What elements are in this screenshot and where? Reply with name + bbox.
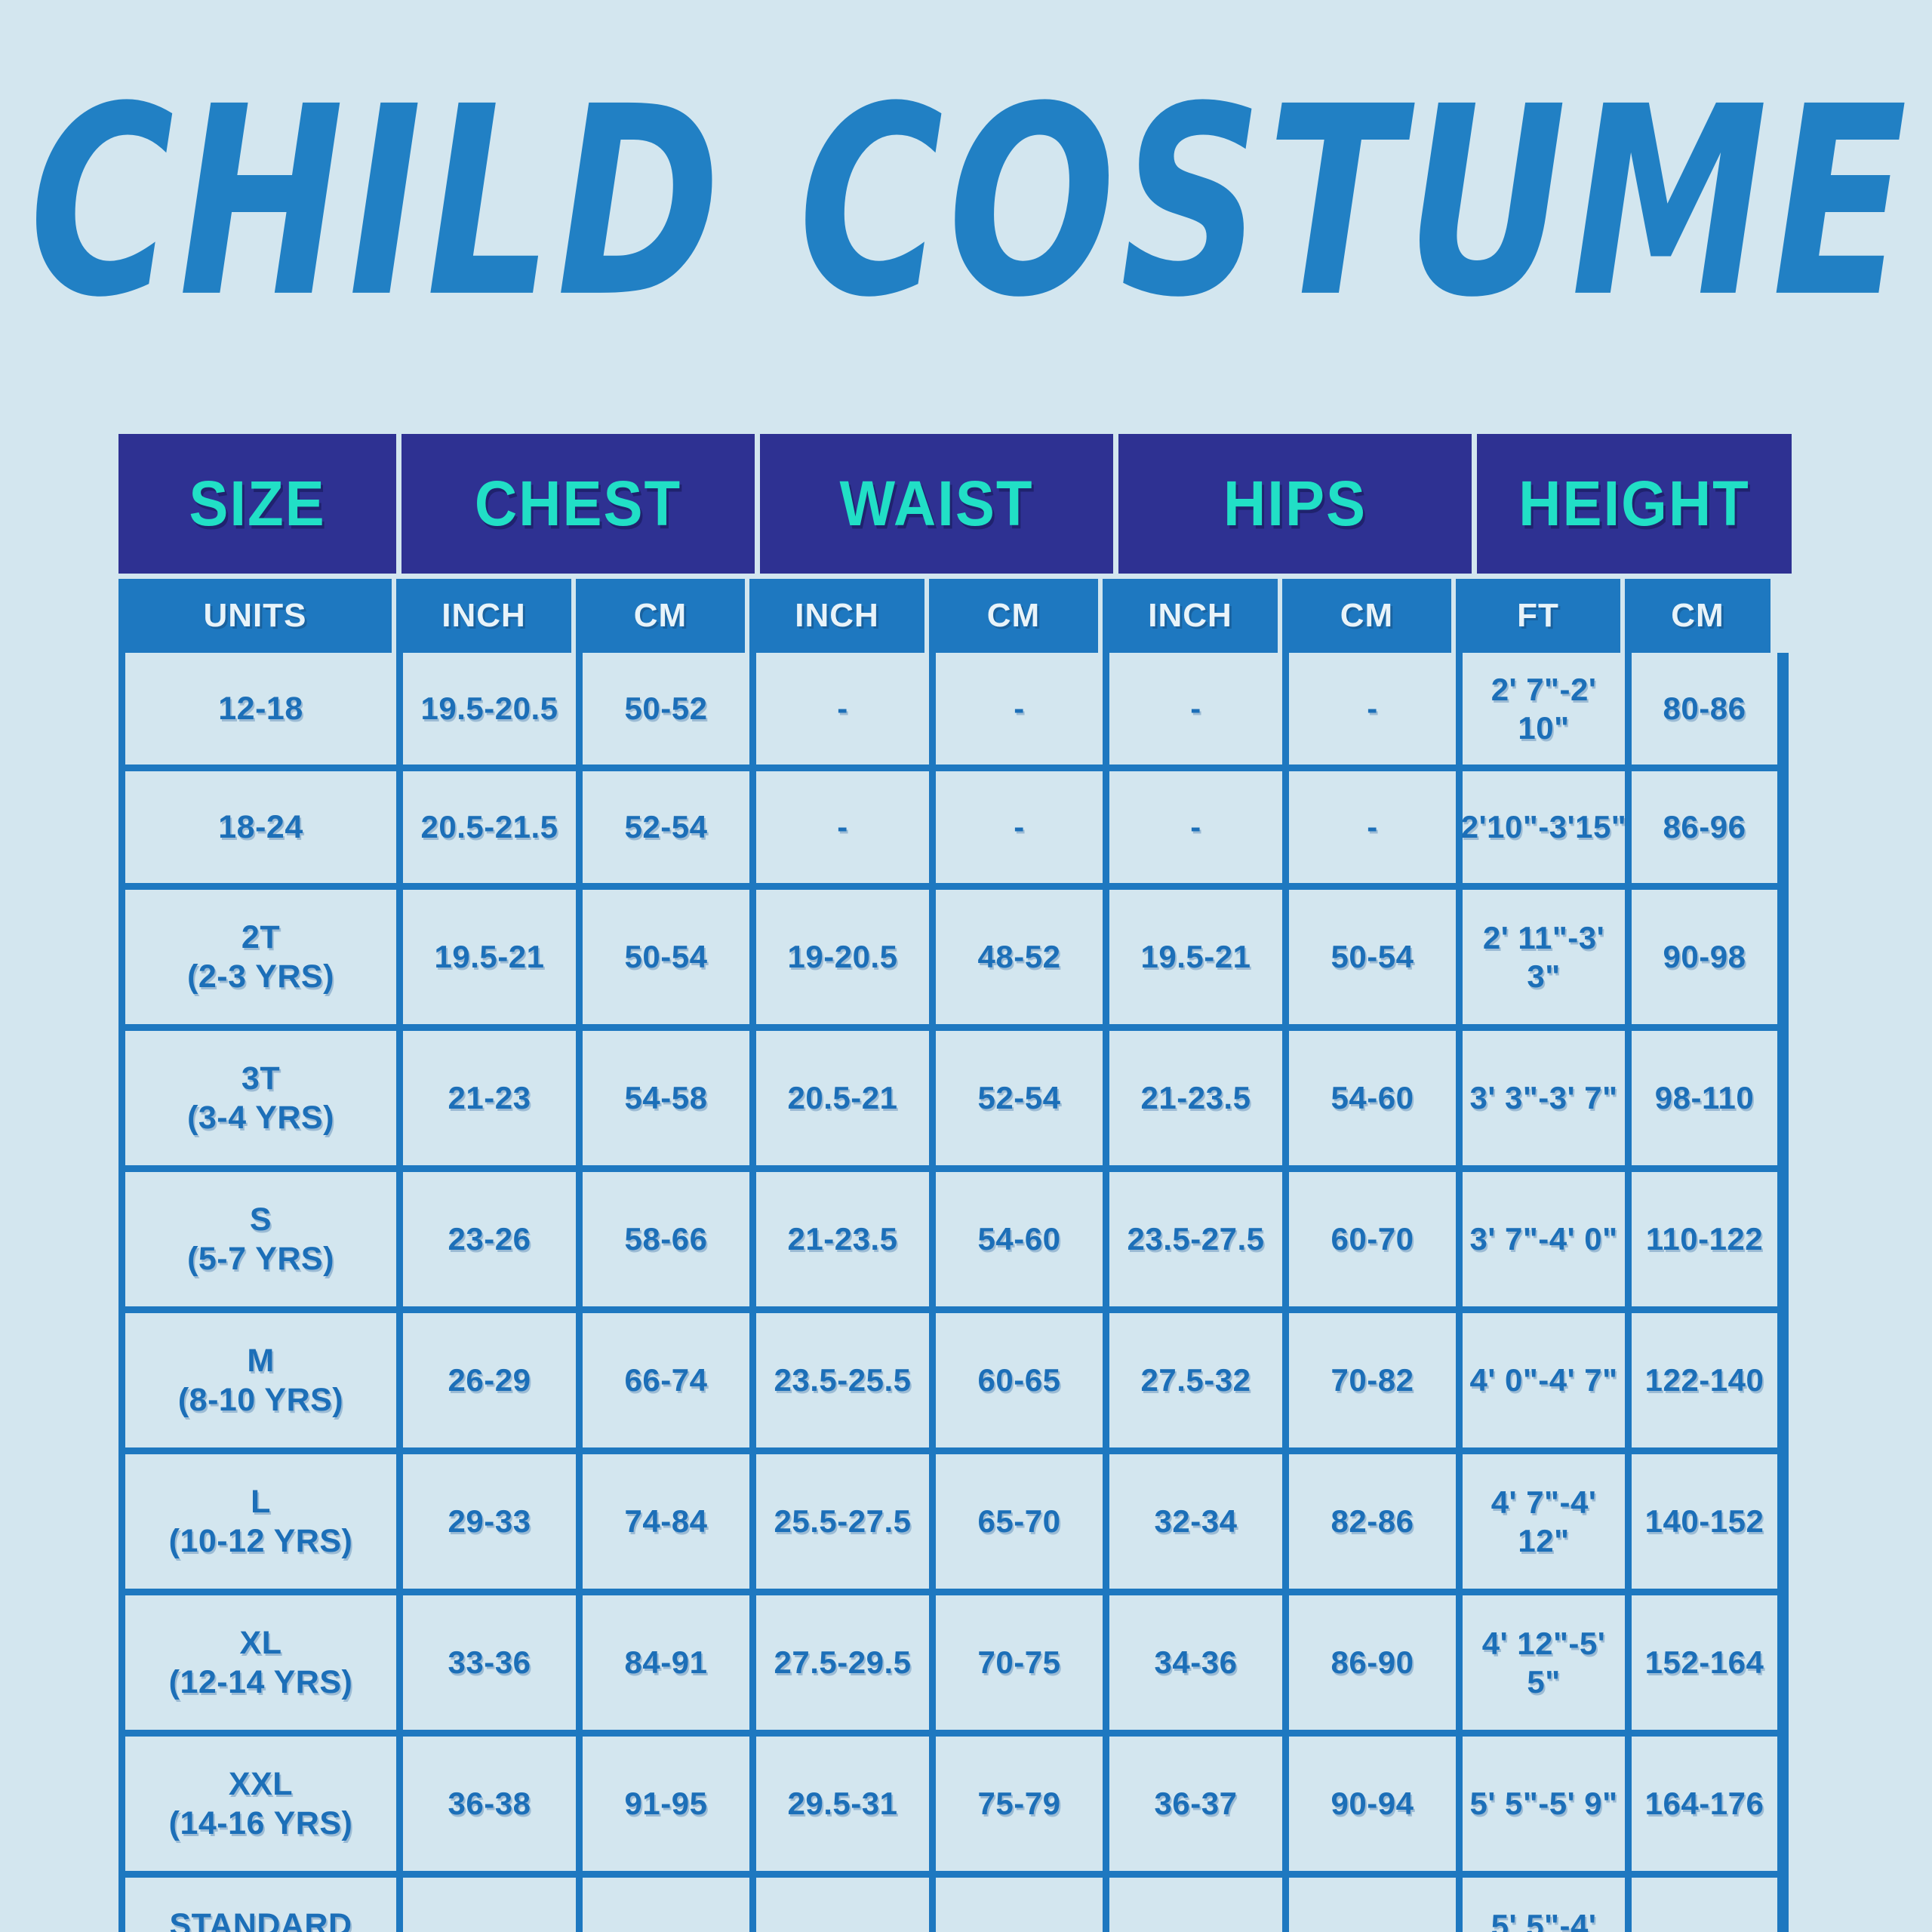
cell-hips-inch-value: - — [1190, 808, 1201, 846]
cell-hips-inch-value: 19.5-21 — [1141, 937, 1251, 976]
sub-header-hips-inch-label: INCH — [1148, 597, 1232, 635]
cell-waist-inch: 21.5-26.5 — [756, 1878, 936, 1932]
cell-size-value: 12-18 — [218, 689, 303, 728]
cell-height-ft: 2' 7"-2' 10" — [1463, 653, 1632, 764]
cell-size: STANDARD (5-12 YRS) — [125, 1878, 403, 1932]
cell-hips-inch-value: 23.5-27.5 — [1128, 1220, 1265, 1258]
cell-chest-cm: 84-91 — [583, 1595, 756, 1730]
cell-hips-cm-value: 70-82 — [1331, 1361, 1414, 1399]
cell-waist-cm-value: 55-68 — [978, 1925, 1061, 1932]
cell-height-cm-value: 90-98 — [1663, 937, 1746, 976]
cell-hips-inch-value: 27.5-32 — [1141, 1361, 1251, 1399]
cell-waist-cm: - — [936, 653, 1109, 764]
cell-waist-inch-value: 29.5-31 — [788, 1784, 898, 1823]
cell-waist-cm: - — [936, 771, 1109, 883]
cell-chest-cm: 58-66 — [583, 1172, 756, 1306]
cell-height-ft: 2'10"-3'15" — [1463, 771, 1632, 883]
cell-hips-cm-value: 60-70 — [1331, 1220, 1414, 1258]
cell-chest-inch: 33-36 — [403, 1595, 583, 1730]
cell-height-ft-value: 4' 0"-4' 7" — [1469, 1361, 1617, 1399]
sub-header-waist-inch: INCH — [749, 579, 929, 653]
size-chart-table: SIZE CHEST WAIST HIPS HEIGHT UNITS INCH — [118, 434, 1789, 1932]
sub-header-units-label: UNITS — [204, 597, 307, 635]
cell-size-value: S (5-7 YRS) — [187, 1200, 334, 1279]
cell-chest-inch-value: 23-26 — [448, 1220, 531, 1258]
cell-hips-cm: 90-94 — [1289, 1737, 1463, 1871]
cell-chest-inch-value: 33-36 — [448, 1643, 531, 1681]
cell-height-ft: 4' 0"-4' 7" — [1463, 1313, 1632, 1447]
cell-height-cm-value: 152-164 — [1645, 1643, 1764, 1681]
cell-chest-inch-value: 36-38 — [448, 1784, 531, 1823]
cell-hips-cm: 60-70 — [1289, 1172, 1463, 1306]
cell-waist-inch-value: 19-20.5 — [788, 937, 898, 976]
sub-header-waist-cm-label: CM — [987, 597, 1040, 635]
sub-header-height-cm: CM — [1625, 579, 1770, 653]
cell-waist-inch: - — [756, 771, 936, 883]
cell-height-cm: 140-152 — [1632, 1454, 1777, 1589]
cell-chest-inch: 23-31 — [403, 1878, 583, 1932]
cell-height-ft-value: 2' 11"-3' 3" — [1466, 918, 1622, 995]
cell-chest-inch: 26-29 — [403, 1313, 583, 1447]
cell-chest-inch-value: 23-31 — [448, 1925, 531, 1932]
cell-chest-inch-value: 21-23 — [448, 1078, 531, 1117]
cell-hips-inch: 23.5-27.5 — [1109, 1172, 1289, 1306]
cell-size-value: 18-24 — [218, 808, 303, 847]
sub-header-waist-cm: CM — [929, 579, 1103, 653]
cell-waist-inch: 20.5-21 — [756, 1031, 936, 1165]
cell-waist-inch-value: 21-23.5 — [788, 1220, 898, 1258]
cell-height-cm: 90-98 — [1632, 890, 1777, 1024]
table-row: XXL (14-16 YRS)36-3891-9529.5-3175-7936-… — [125, 1737, 1782, 1878]
cell-waist-inch: - — [756, 653, 936, 764]
cell-size: 18-24 — [125, 771, 403, 883]
cell-height-ft: 5' 5"-4' 11" — [1463, 1878, 1632, 1932]
cell-hips-cm: 82-86 — [1289, 1454, 1463, 1589]
cell-height-cm-value: 98-110 — [1655, 1078, 1754, 1117]
cell-waist-inch-value: 23.5-25.5 — [774, 1361, 912, 1399]
cell-height-ft-value: 3' 3"-3' 7" — [1469, 1078, 1617, 1117]
cell-size-value: XXL (14-16 YRS) — [169, 1764, 353, 1844]
cell-waist-inch: 25.5-27.5 — [756, 1454, 936, 1589]
cell-height-cm: 98-110 — [1632, 1031, 1777, 1165]
cell-height-cm-value: 80-86 — [1663, 689, 1746, 728]
cell-size: 3T (3-4 YRS) — [125, 1031, 403, 1165]
cell-waist-cm: 48-52 — [936, 890, 1109, 1024]
table-row: S (5-7 YRS)23-2658-6621-23.554-6023.5-27… — [125, 1172, 1782, 1313]
table-row: L (10-12 YRS)29-3374-8425.5-27.565-7032-… — [125, 1454, 1782, 1595]
cell-height-cm: 110-122 — [1632, 1172, 1777, 1306]
table-row: XL (12-14 YRS)33-3684-9127.5-29.570-7534… — [125, 1595, 1782, 1737]
cell-chest-inch: 19.5-20.5 — [403, 653, 583, 764]
cell-waist-cm-value: 48-52 — [978, 937, 1061, 976]
sub-header-units: UNITS — [118, 579, 396, 653]
cell-size: XL (12-14 YRS) — [125, 1595, 403, 1730]
cell-hips-inch: 25-34 — [1109, 1878, 1289, 1932]
cell-height-cm-value: 86-96 — [1663, 808, 1746, 846]
cell-hips-inch-value: 32-34 — [1155, 1502, 1238, 1540]
cell-hips-cm-value: 54-60 — [1331, 1078, 1414, 1117]
cell-chest-cm-value: 66-74 — [625, 1361, 708, 1399]
group-header-hips: HIPS — [1118, 434, 1472, 574]
cell-waist-inch: 29.5-31 — [756, 1737, 936, 1871]
cell-height-cm-value: 122-140 — [1645, 1361, 1764, 1399]
cell-hips-inch-value: 34-36 — [1155, 1643, 1238, 1681]
cell-waist-cm-value: 52-54 — [978, 1078, 1061, 1117]
cell-waist-cm: 75-79 — [936, 1737, 1109, 1871]
cell-hips-inch-value: - — [1190, 689, 1201, 728]
cell-height-cm-value: 110-150 — [1646, 1925, 1763, 1932]
cell-height-cm-value: 110-122 — [1646, 1220, 1763, 1258]
cell-height-ft-value: 4' 12"-5' 5" — [1466, 1624, 1622, 1701]
cell-height-ft: 3' 7"-4' 0" — [1463, 1172, 1632, 1306]
cell-waist-inch-value: 21.5-26.5 — [774, 1925, 912, 1932]
cell-chest-cm: 66-74 — [583, 1313, 756, 1447]
cell-chest-cm-value: 59-80 — [625, 1925, 708, 1932]
cell-chest-cm-value: 50-52 — [625, 689, 708, 728]
table-row: 18-2420.5-21.552-54----2'10"-3'15"86-96 — [125, 771, 1782, 890]
group-header-hips-label: HIPS — [1223, 466, 1367, 540]
cell-hips-inch: - — [1109, 771, 1289, 883]
cell-waist-cm: 55-68 — [936, 1878, 1109, 1932]
cell-size: XXL (14-16 YRS) — [125, 1737, 403, 1871]
cell-size-value: 2T (2-3 YRS) — [187, 918, 334, 997]
cell-hips-inch-value: 36-37 — [1155, 1784, 1238, 1823]
cell-hips-cm: 70-82 — [1289, 1313, 1463, 1447]
cell-hips-inch: 34-36 — [1109, 1595, 1289, 1730]
table-row: STANDARD (5-12 YRS)23-3159-8021.5-26.555… — [125, 1878, 1782, 1932]
cell-height-cm-value: 164-176 — [1645, 1784, 1764, 1823]
cell-height-ft: 5' 5"-5' 9" — [1463, 1737, 1632, 1871]
cell-chest-inch-value: 19.5-21 — [435, 937, 545, 976]
cell-chest-cm-value: 52-54 — [625, 808, 708, 846]
cell-height-cm: 80-86 — [1632, 653, 1777, 764]
group-header-height: HEIGHT — [1477, 434, 1792, 574]
cell-size-value: 3T (3-4 YRS) — [187, 1059, 334, 1138]
cell-waist-inch: 19-20.5 — [756, 890, 936, 1024]
cell-chest-inch-value: 20.5-21.5 — [421, 808, 558, 846]
cell-chest-cm-value: 84-91 — [625, 1643, 708, 1681]
cell-chest-inch: 23-26 — [403, 1172, 583, 1306]
table-row: M (8-10 YRS)26-2966-7423.5-25.560-6527.5… — [125, 1313, 1782, 1454]
cell-height-ft-value: 4' 7"-4' 12" — [1466, 1483, 1622, 1560]
cell-chest-inch-value: 29-33 — [448, 1502, 531, 1540]
cell-chest-cm-value: 58-66 — [625, 1220, 708, 1258]
cell-height-ft: 2' 11"-3' 3" — [1463, 890, 1632, 1024]
cell-chest-inch-value: 19.5-20.5 — [421, 689, 558, 728]
sub-header-height-ft: FT — [1456, 579, 1625, 653]
sub-header-chest-inch: INCH — [396, 579, 576, 653]
cell-waist-cm-value: - — [1014, 808, 1025, 846]
group-header-chest-label: CHEST — [475, 466, 681, 540]
cell-height-cm: 152-164 — [1632, 1595, 1777, 1730]
sub-header-chest-cm: CM — [576, 579, 749, 653]
cell-chest-cm-value: 50-54 — [625, 937, 708, 976]
cell-waist-cm: 65-70 — [936, 1454, 1109, 1589]
cell-waist-cm-value: 75-79 — [978, 1784, 1061, 1823]
cell-height-ft-value: 2'10"-3'15" — [1461, 808, 1626, 846]
cell-hips-inch: 36-37 — [1109, 1737, 1289, 1871]
cell-height-cm: 164-176 — [1632, 1737, 1777, 1871]
cell-size-value: XL (12-14 YRS) — [169, 1623, 353, 1703]
cell-waist-inch: 23.5-25.5 — [756, 1313, 936, 1447]
cell-hips-inch: 21-23.5 — [1109, 1031, 1289, 1165]
sub-header-chest-cm-label: CM — [634, 597, 687, 635]
sub-header-height-cm-label: CM — [1671, 597, 1724, 635]
cell-waist-cm-value: 65-70 — [978, 1502, 1061, 1540]
page-title-wrap: CHILD COSTUME — [0, 79, 1932, 273]
cell-size-value: STANDARD (5-12 YRS) — [169, 1906, 352, 1932]
cell-waist-cm-value: 60-65 — [978, 1361, 1061, 1399]
cell-hips-inch-value: 25-34 — [1155, 1925, 1238, 1932]
cell-hips-inch: 32-34 — [1109, 1454, 1289, 1589]
cell-chest-inch: 29-33 — [403, 1454, 583, 1589]
cell-chest-inch: 36-38 — [403, 1737, 583, 1871]
table-row: 3T (3-4 YRS)21-2354-5820.5-2152-5421-23.… — [125, 1031, 1782, 1172]
table-row: 2T (2-3 YRS)19.5-2150-5419-20.548-5219.5… — [125, 890, 1782, 1031]
sub-header-hips-cm: CM — [1282, 579, 1456, 653]
cell-waist-cm: 52-54 — [936, 1031, 1109, 1165]
cell-height-ft: 4' 7"-4' 12" — [1463, 1454, 1632, 1589]
cell-waist-inch-value: - — [837, 689, 848, 728]
cell-waist-cm-value: 70-75 — [978, 1643, 1061, 1681]
cell-chest-inch-value: 26-29 — [448, 1361, 531, 1399]
cell-size: 2T (2-3 YRS) — [125, 890, 403, 1024]
table-body: 12-1819.5-20.550-52----2' 7"-2' 10"80-86… — [118, 653, 1789, 1932]
cell-waist-cm: 70-75 — [936, 1595, 1109, 1730]
cell-hips-cm: 50-54 — [1289, 890, 1463, 1024]
cell-hips-cm: 86-90 — [1289, 1595, 1463, 1730]
cell-height-ft-value: 3' 7"-4' 0" — [1469, 1220, 1617, 1258]
cell-chest-cm: 52-54 — [583, 771, 756, 883]
cell-hips-inch: 19.5-21 — [1109, 890, 1289, 1024]
cell-hips-inch: - — [1109, 653, 1289, 764]
cell-chest-cm: 91-95 — [583, 1737, 756, 1871]
sub-header-hips-cm-label: CM — [1340, 597, 1393, 635]
cell-size-value: L (10-12 YRS) — [169, 1482, 353, 1561]
page-title: CHILD COSTUME — [29, 79, 1912, 327]
cell-hips-cm: 54-60 — [1289, 1031, 1463, 1165]
group-header-waist: WAIST — [760, 434, 1113, 574]
cell-chest-inch: 20.5-21.5 — [403, 771, 583, 883]
sub-header-waist-inch-label: INCH — [795, 597, 879, 635]
group-header-row: SIZE CHEST WAIST HIPS HEIGHT — [118, 434, 1789, 574]
cell-height-cm: 122-140 — [1632, 1313, 1777, 1447]
cell-hips-cm: - — [1289, 653, 1463, 764]
cell-waist-cm-value: - — [1014, 689, 1025, 728]
group-header-size: SIZE — [118, 434, 396, 574]
sub-header-chest-inch-label: INCH — [441, 597, 526, 635]
cell-waist-cm: 60-65 — [936, 1313, 1109, 1447]
size-chart-page: CHILD COSTUME SIZE CHEST WAIST HIPS HEIG… — [0, 0, 1932, 1932]
sub-header-height-ft-label: FT — [1517, 597, 1559, 635]
cell-height-ft-value: 2' 7"-2' 10" — [1466, 670, 1622, 747]
group-header-waist-label: WAIST — [840, 466, 1034, 540]
cell-size: 12-18 — [125, 653, 403, 764]
cell-size: M (8-10 YRS) — [125, 1313, 403, 1447]
cell-chest-cm-value: 91-95 — [625, 1784, 708, 1823]
cell-chest-cm: 50-52 — [583, 653, 756, 764]
cell-hips-cm: - — [1289, 771, 1463, 883]
cell-height-ft: 3' 3"-3' 7" — [1463, 1031, 1632, 1165]
cell-chest-inch: 21-23 — [403, 1031, 583, 1165]
table-row: 12-1819.5-20.550-52----2' 7"-2' 10"80-86 — [125, 653, 1782, 771]
cell-chest-cm-value: 74-84 — [625, 1502, 708, 1540]
group-header-height-label: HEIGHT — [1518, 466, 1750, 540]
cell-chest-cm: 59-80 — [583, 1878, 756, 1932]
cell-waist-inch: 27.5-29.5 — [756, 1595, 936, 1730]
cell-hips-cm: 64-86 — [1289, 1878, 1463, 1932]
cell-waist-inch-value: 25.5-27.5 — [774, 1502, 912, 1540]
cell-chest-cm-value: 54-58 — [625, 1078, 708, 1117]
cell-chest-cm: 74-84 — [583, 1454, 756, 1589]
cell-waist-inch-value: 27.5-29.5 — [774, 1643, 912, 1681]
cell-waist-inch-value: - — [837, 808, 848, 846]
cell-height-cm: 110-150 — [1632, 1878, 1777, 1932]
cell-chest-cm: 50-54 — [583, 890, 756, 1024]
cell-chest-cm: 54-58 — [583, 1031, 756, 1165]
group-header-chest: CHEST — [401, 434, 755, 574]
cell-height-ft: 4' 12"-5' 5" — [1463, 1595, 1632, 1730]
cell-size: L (10-12 YRS) — [125, 1454, 403, 1589]
cell-hips-cm-value: 50-54 — [1331, 937, 1414, 976]
cell-size: S (5-7 YRS) — [125, 1172, 403, 1306]
cell-waist-cm-value: 54-60 — [978, 1220, 1061, 1258]
cell-hips-cm-value: 86-90 — [1331, 1643, 1414, 1681]
cell-height-cm: 86-96 — [1632, 771, 1777, 883]
cell-waist-inch: 21-23.5 — [756, 1172, 936, 1306]
cell-height-ft-value: 5' 5"-4' 11" — [1466, 1906, 1622, 1932]
cell-hips-cm-value: - — [1367, 808, 1378, 846]
cell-height-ft-value: 5' 5"-5' 9" — [1469, 1784, 1617, 1823]
cell-waist-inch-value: 20.5-21 — [788, 1078, 898, 1117]
cell-size-value: M (8-10 YRS) — [178, 1341, 343, 1420]
cell-hips-cm-value: - — [1367, 689, 1378, 728]
sub-header-row: UNITS INCH CM INCH CM INCH CM FT — [118, 579, 1789, 653]
cell-waist-cm: 54-60 — [936, 1172, 1109, 1306]
cell-hips-inch-value: 21-23.5 — [1141, 1078, 1251, 1117]
cell-height-cm-value: 140-152 — [1645, 1502, 1764, 1540]
cell-hips-cm-value: 90-94 — [1331, 1784, 1414, 1823]
group-header-size-label: SIZE — [189, 466, 325, 540]
cell-hips-inch: 27.5-32 — [1109, 1313, 1289, 1447]
sub-header-hips-inch: INCH — [1103, 579, 1282, 653]
cell-chest-inch: 19.5-21 — [403, 890, 583, 1024]
cell-hips-cm-value: 82-86 — [1331, 1502, 1414, 1540]
cell-hips-cm-value: 64-86 — [1331, 1925, 1414, 1932]
